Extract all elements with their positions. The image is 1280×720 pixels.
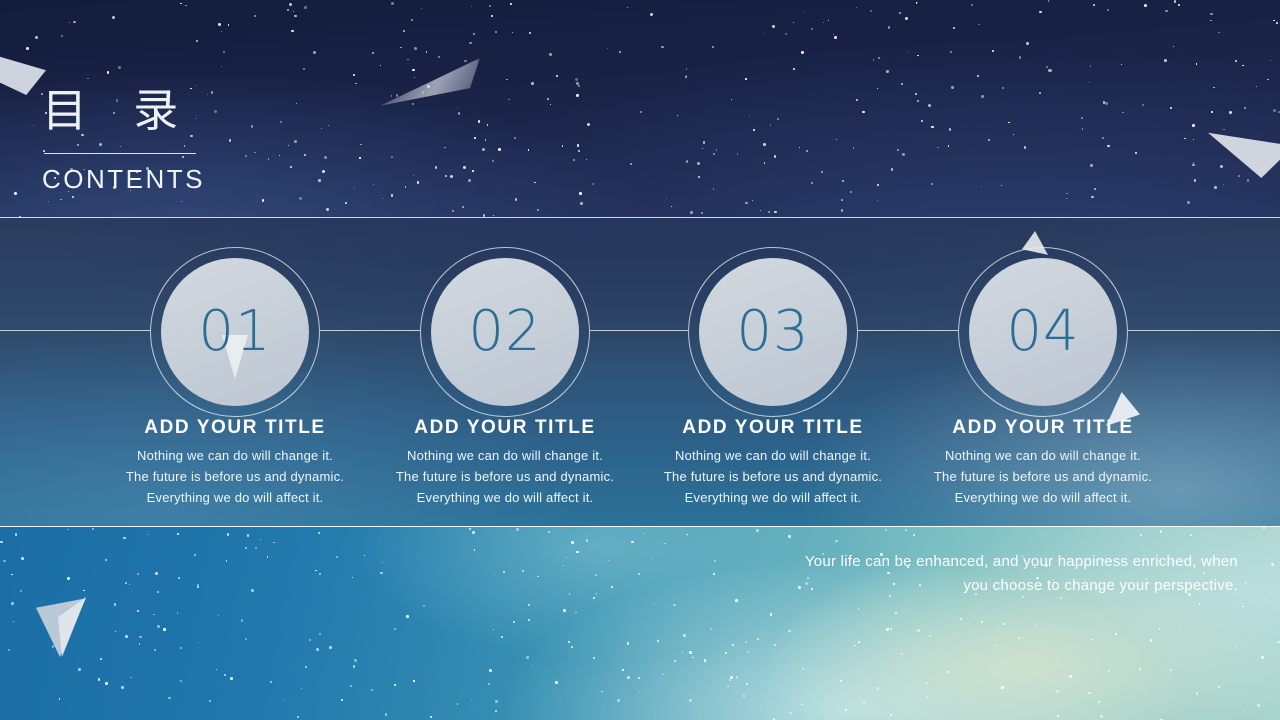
step-body: Nothing we can do will change it.The fut…	[100, 445, 370, 508]
step-circle-02[interactable]: 02	[431, 258, 579, 406]
step-number: 02	[468, 304, 541, 360]
step-body-line-3: Everything we do will affect it.	[908, 487, 1178, 508]
step-body-line-1: Nothing we can do will change it.	[908, 445, 1178, 466]
steps-container: 01ADD YOUR TITLENothing we can do will c…	[0, 217, 1280, 526]
step-number: 01	[198, 304, 271, 360]
step-title: ADD YOUR TITLE	[370, 417, 640, 439]
step-disc: 04	[969, 258, 1117, 406]
presentation-slide: 目 录 CONTENTS 01ADD YOUR TITLENothing we …	[0, 0, 1280, 720]
step-disc: 02	[431, 258, 579, 406]
step-body-line-3: Everything we do will affect it.	[370, 487, 640, 508]
page-title-en: CONTENTS	[42, 164, 362, 195]
quote-line-2: you choose to change your perspective.	[768, 574, 1238, 598]
step-number: 03	[736, 304, 809, 360]
step-body: Nothing we can do will change it.The fut…	[908, 445, 1178, 508]
step-body-line-2: The future is before us and dynamic.	[908, 466, 1178, 487]
footer-divider-line	[0, 526, 1280, 527]
step-title: ADD YOUR TITLE	[100, 417, 370, 439]
step-body-line-1: Nothing we can do will change it.	[638, 445, 908, 466]
step-body: Nothing we can do will change it.The fut…	[638, 445, 908, 508]
footer-quote: Your life can be enhanced, and your happ…	[768, 550, 1238, 599]
step-body-line-2: The future is before us and dynamic.	[100, 466, 370, 487]
step-body-line-2: The future is before us and dynamic.	[638, 466, 908, 487]
step-disc: 03	[699, 258, 847, 406]
quote-line-1: Your life can be enhanced, and your happ…	[768, 550, 1238, 574]
step-body: Nothing we can do will change it.The fut…	[370, 445, 640, 508]
step-disc: 01	[161, 258, 309, 406]
step-number: 04	[1006, 304, 1079, 360]
step-title: ADD YOUR TITLE	[638, 417, 908, 439]
title-underline	[44, 153, 196, 154]
step-title: ADD YOUR TITLE	[908, 417, 1178, 439]
step-body-line-2: The future is before us and dynamic.	[370, 466, 640, 487]
step-circle-03[interactable]: 03	[699, 258, 847, 406]
step-circle-01[interactable]: 01	[161, 258, 309, 406]
slide-title-block: 目 录 CONTENTS	[42, 88, 362, 195]
step-circle-04[interactable]: 04	[969, 258, 1117, 406]
step-body-line-3: Everything we do will affect it.	[638, 487, 908, 508]
step-body-line-1: Nothing we can do will change it.	[100, 445, 370, 466]
step-body-line-3: Everything we do will affect it.	[100, 487, 370, 508]
page-title-cn: 目 录	[42, 88, 362, 133]
step-body-line-1: Nothing we can do will change it.	[370, 445, 640, 466]
